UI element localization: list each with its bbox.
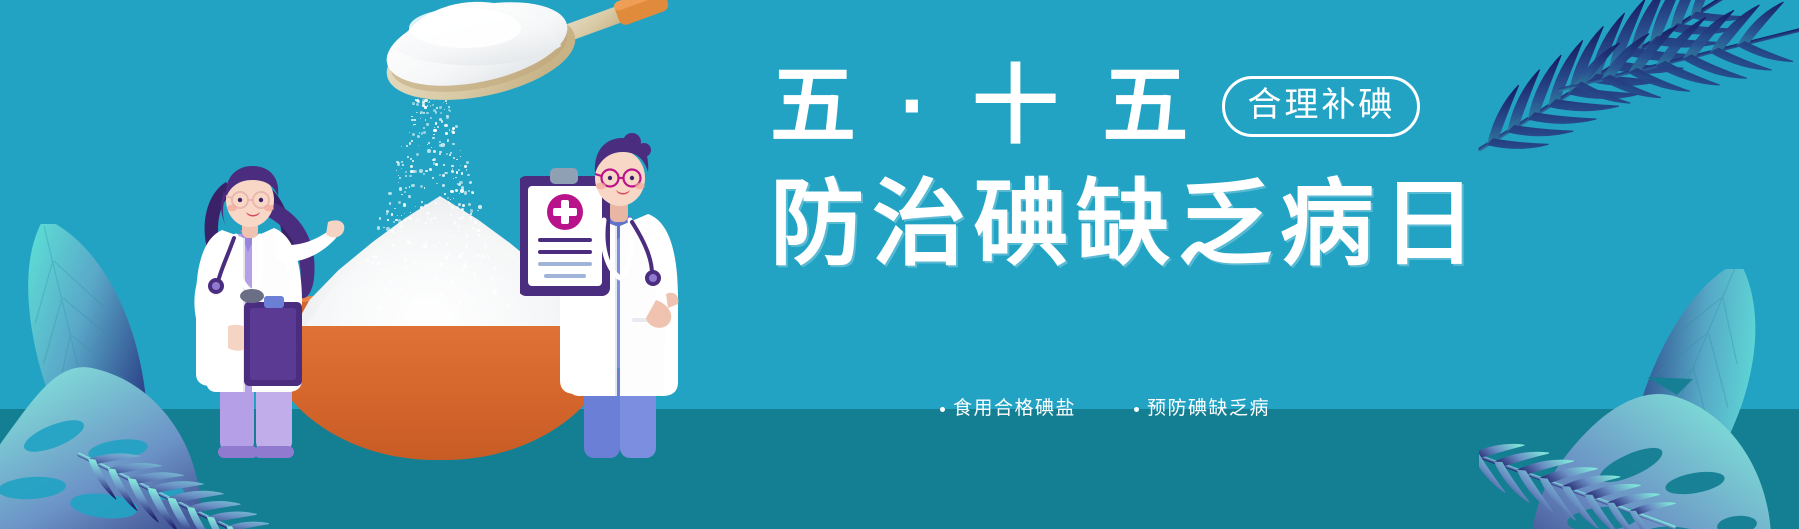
tagline-item: 食用合格碘盐 (940, 398, 1076, 420)
female-doctor-illustration (148, 160, 348, 460)
tagline-label: 食用合格碘盐 (953, 398, 1076, 420)
headline-line-one: 五 · 十 五 合理补碘 (770, 58, 1430, 154)
event-title: 防治碘缺乏病日 (770, 174, 1430, 274)
iodine-deficiency-day-banner: 五 · 十 五 合理补碘 防治碘缺乏病日 食用合格碘盐 预防碘缺乏病 (0, 0, 1799, 529)
bullet-dot-icon (1134, 407, 1139, 412)
headline-block: 五 · 十 五 合理补碘 防治碘缺乏病日 (770, 58, 1430, 274)
tagline-list: 食用合格碘盐 预防碘缺乏病 (940, 398, 1440, 420)
bullet-dot-icon (940, 407, 945, 412)
tagline-item: 预防碘缺乏病 (1134, 398, 1270, 420)
male-doctor-illustration (520, 128, 695, 460)
wooden-spoon-icon (345, 0, 675, 104)
event-date: 五 · 十 五 (770, 63, 1198, 149)
falling-salt-stream (340, 78, 520, 308)
slogan-badge: 合理补碘 (1222, 76, 1420, 137)
tagline-label: 预防碘缺乏病 (1147, 398, 1270, 420)
